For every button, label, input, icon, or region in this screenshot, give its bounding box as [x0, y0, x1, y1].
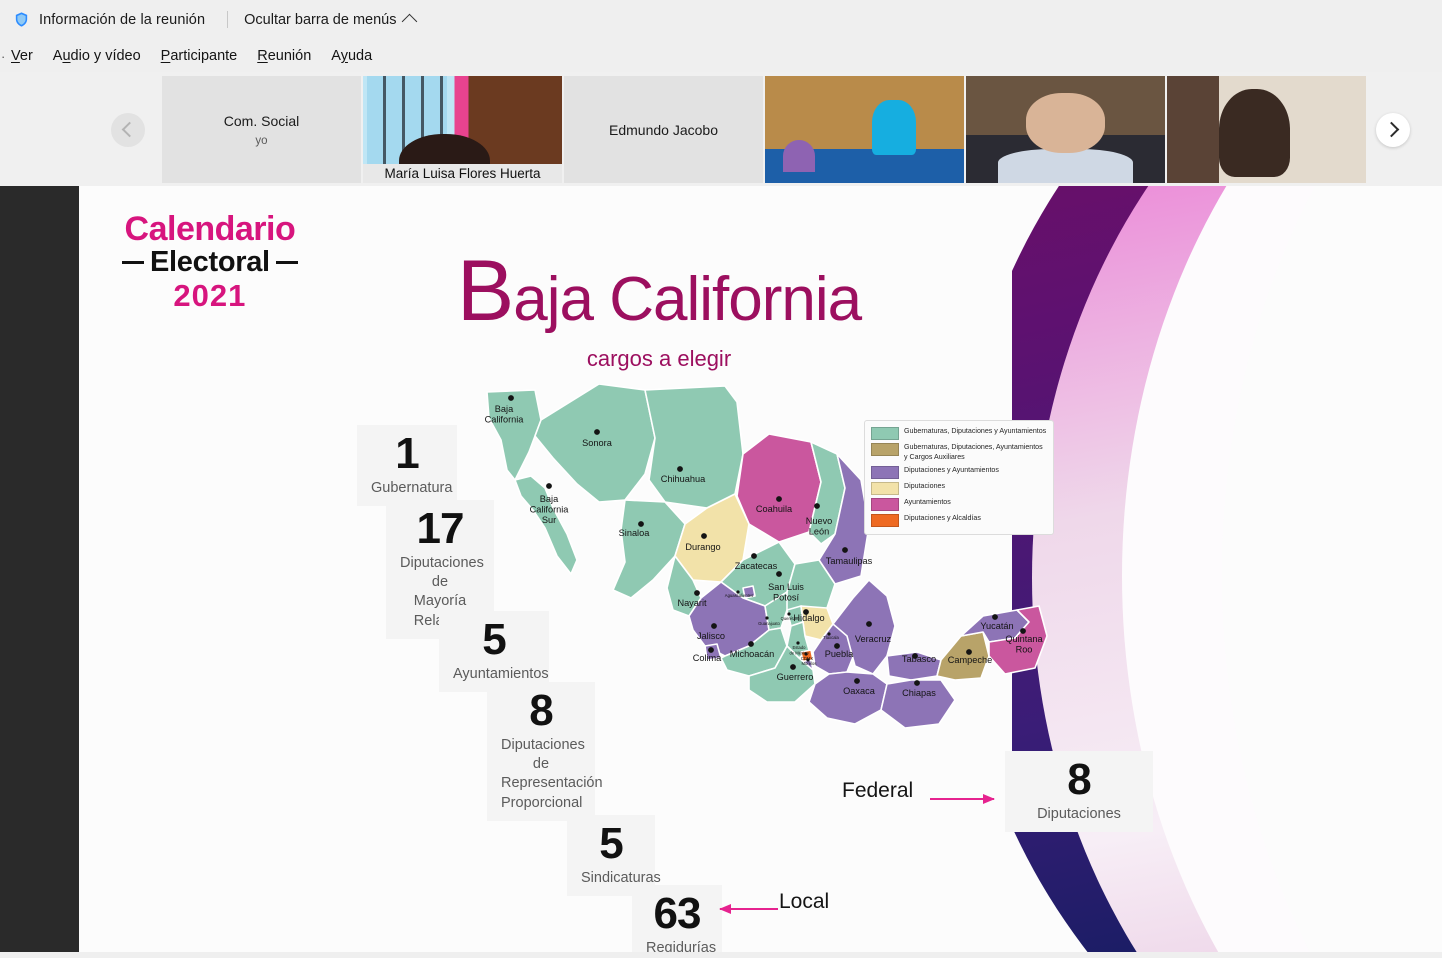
participant-tile-consejero[interactable]: [966, 76, 1165, 183]
meeting-info-label[interactable]: Información de la reunión: [39, 12, 205, 28]
map-state-label: Baja: [540, 494, 559, 504]
chevron-up-icon: [402, 14, 418, 30]
zoom-meeting-window: Información de la reunión Ocultar barra …: [0, 0, 1442, 958]
map-state-dot: [765, 616, 768, 619]
state-title-rest: aja California: [513, 265, 861, 334]
map-state-label: Colima: [693, 653, 722, 663]
map-state-label: Roo: [1016, 645, 1033, 655]
map-state-label: Estado: [792, 645, 806, 650]
participant-tiles: Com. Social yo María Luisa Flores Huerta…: [162, 76, 1368, 183]
legend-row: Diputaciones: [871, 481, 1047, 495]
map-state-dot: [694, 590, 700, 596]
shield-icon: [13, 11, 30, 28]
chevron-left-icon: [122, 122, 138, 138]
map-state-label: Veracruz: [855, 634, 892, 644]
map-state-label: Yucatán: [980, 621, 1013, 631]
menu-bar-top-row: Información de la reunión Ocultar barra …: [0, 0, 1442, 39]
participant-video-feed: [765, 76, 964, 183]
menu-item-ver[interactable]: Ver: [11, 48, 33, 64]
map-state-label: Nuevo: [806, 516, 833, 526]
map-state-label: Tabasco: [902, 654, 936, 664]
legend-row: Ayuntamientos: [871, 497, 1047, 511]
map-state-label: Puebla: [825, 649, 854, 659]
map-state-dot: [701, 533, 707, 539]
local-label: Local: [779, 890, 829, 914]
legend-color-swatch: [871, 427, 899, 440]
map-state-label: Querétaro: [781, 616, 801, 621]
menu-item-audio-video[interactable]: Audio y vídeo: [53, 48, 141, 64]
map-state-dot: [914, 680, 920, 686]
state-title: Baja California: [79, 248, 1239, 334]
local-arrow-icon: [720, 908, 778, 910]
map-state-label: Chiapas: [902, 688, 936, 698]
stat-regidurias: 63 Regidurías: [632, 885, 722, 952]
map-state-label: Michoacán: [730, 649, 774, 659]
shared-screen-area: Calendario Electoral 2021 Baja Californi…: [0, 186, 1442, 952]
filmstrip-next-button[interactable]: [1376, 113, 1410, 147]
stat-number: 17: [400, 506, 480, 552]
map-state-label: California: [485, 415, 525, 425]
legend-color-swatch: [871, 498, 899, 511]
map-state-dot: [508, 395, 514, 401]
map-state-dot: [866, 621, 872, 627]
map-state-label: Aguascalientes: [725, 593, 753, 598]
stat-number: 8: [1019, 757, 1139, 803]
stat-gubernatura: 1 Gubernatura: [357, 425, 457, 506]
legend-row: Diputaciones y Alcaldías: [871, 513, 1047, 527]
map-state-dot: [751, 553, 757, 559]
legend-label: Gubernaturas, Diputaciones, Ayuntamiento…: [904, 442, 1047, 463]
map-state-label: Chihuahua: [661, 474, 706, 484]
legend-label: Diputaciones y Alcaldías: [904, 513, 981, 523]
legend-row: Gubernaturas, Diputaciones y Ayuntamient…: [871, 426, 1047, 440]
map-legend: Gubernaturas, Diputaciones y Ayuntamient…: [864, 420, 1054, 535]
filmstrip-prev-button[interactable]: [111, 113, 145, 147]
map-state-label: Sinaloa: [619, 528, 651, 538]
map-state-label: Potosí: [773, 593, 799, 603]
map-state-label: Guanajuato: [758, 621, 780, 626]
map-state-label: Guerrero: [777, 672, 814, 682]
participant-video-feed: [1167, 76, 1366, 183]
map-state-label: Quintana: [1005, 634, 1043, 644]
participant-self-label: yo: [255, 135, 267, 147]
participant-name: María Luisa Flores Huerta: [363, 164, 562, 183]
chevron-right-icon: [1384, 122, 1400, 138]
menu-item-participante[interactable]: Participante: [161, 48, 238, 64]
federal-arrow-icon: [930, 798, 994, 800]
legend-color-swatch: [871, 514, 899, 527]
map-state-label: Morelos: [802, 661, 817, 666]
map-state-dot: [677, 466, 683, 472]
map-state-dot: [814, 503, 820, 509]
map-state-label: Baja: [495, 404, 514, 414]
map-state-dot: [594, 429, 600, 435]
stat-diputaciones-federales: 8 Diputaciones: [1005, 751, 1153, 832]
stat-number: 5: [581, 821, 641, 867]
menu-divider: [227, 11, 228, 28]
map-state-dot: [790, 664, 796, 670]
map-state-label: California: [530, 505, 570, 515]
participant-tile-edmundo-jacobo[interactable]: Edmundo Jacobo: [564, 76, 763, 183]
stat-number: 5: [453, 617, 535, 663]
page-subtitle: cargos a elegir: [79, 346, 1239, 372]
map-state-label: Campeche: [948, 655, 992, 665]
map-state-dot: [748, 641, 754, 647]
map-state-label: Coahuila: [756, 504, 793, 514]
map-state-label: Nayarit: [677, 598, 707, 608]
stat-label: Diputaciones: [1019, 805, 1139, 824]
legend-label: Gubernaturas, Diputaciones y Ayuntamient…: [904, 426, 1046, 436]
map-state-label: Tamaulipas: [826, 556, 873, 566]
presentation-slide[interactable]: Calendario Electoral 2021 Baja Californi…: [79, 186, 1442, 952]
map-state-label: Jalisco: [697, 631, 725, 641]
menu-bar-items-row: · Ver Audio y vídeo Participante Reunión…: [0, 40, 1442, 72]
legend-row: Diputaciones y Ayuntamientos: [871, 465, 1047, 479]
legend-color-swatch: [871, 443, 899, 456]
stat-diputaciones-representacion-proporcional: 8 Diputaciones de Representación Proporc…: [487, 682, 595, 821]
legend-color-swatch: [871, 482, 899, 495]
federal-label: Federal: [842, 779, 913, 803]
map-state-dot: [546, 483, 552, 489]
menu-dash: ·: [1, 49, 11, 64]
participant-tile-com-social[interactable]: Com. Social yo: [162, 76, 361, 183]
legend-row: Gubernaturas, Diputaciones, Ayuntamiento…: [871, 442, 1047, 463]
map-state-dot: [776, 496, 782, 502]
map-state-dot: [992, 614, 998, 620]
map-state-label: Zacatecas: [735, 561, 778, 571]
legend-label: Ayuntamientos: [904, 497, 951, 507]
map-state-dot: [711, 623, 717, 629]
stat-label: Gubernatura: [371, 479, 443, 498]
participant-tile-sala[interactable]: [765, 76, 964, 183]
map-state-label: Sur: [542, 515, 556, 525]
stat-ayuntamientos: 5 Ayuntamientos: [439, 611, 549, 692]
swoosh-layer-white-2: [1222, 186, 1442, 952]
legend-label: Diputaciones y Ayuntamientos: [904, 465, 999, 475]
participant-tile-consejera[interactable]: [1167, 76, 1366, 183]
logo-line-calendario: Calendario: [122, 212, 298, 246]
map-state-label: Durango: [685, 542, 720, 552]
map-state-label: León: [809, 527, 829, 537]
stat-number: 8: [501, 688, 581, 734]
legend-label: Diputaciones: [904, 481, 945, 491]
menu-item-reunion[interactable]: Reunión: [257, 48, 311, 64]
page-title: Baja California: [79, 248, 1239, 334]
map-state-dot: [776, 571, 782, 577]
video-filmstrip: Com. Social yo María Luisa Flores Huerta…: [0, 72, 1442, 187]
stat-label: Diputaciones de Representación Proporcio…: [501, 736, 581, 813]
participant-tile-maria-luisa[interactable]: María Luisa Flores Huerta: [363, 76, 562, 183]
map-state-dot: [854, 678, 860, 684]
menu-bar: Información de la reunión Ocultar barra …: [0, 0, 1442, 72]
state-title-initial: B: [457, 243, 513, 339]
hide-menubar-button[interactable]: Ocultar barra de menús: [244, 12, 415, 28]
map-state-label: Oaxaca: [843, 686, 876, 696]
stat-number: 63: [646, 891, 708, 937]
swoosh-layer-pink-edge: [1332, 186, 1442, 952]
map-state-dot: [638, 521, 644, 527]
stat-number: 1: [371, 431, 443, 477]
map-state-label: San Luis: [768, 582, 804, 592]
map-state-dot: [842, 547, 848, 553]
participant-name: Edmundo Jacobo: [609, 122, 718, 138]
menu-item-ayuda[interactable]: Ayuda: [331, 48, 372, 64]
legend-color-swatch: [871, 466, 899, 479]
map-state-label: Tlaxcala: [823, 635, 839, 640]
participant-name: Com. Social: [224, 113, 299, 129]
hide-menubar-label: Ocultar barra de menús: [244, 12, 396, 28]
map-state-label: Sonora: [582, 438, 613, 448]
participant-video-feed: [966, 76, 1165, 183]
stat-label: Regidurías: [646, 939, 708, 952]
